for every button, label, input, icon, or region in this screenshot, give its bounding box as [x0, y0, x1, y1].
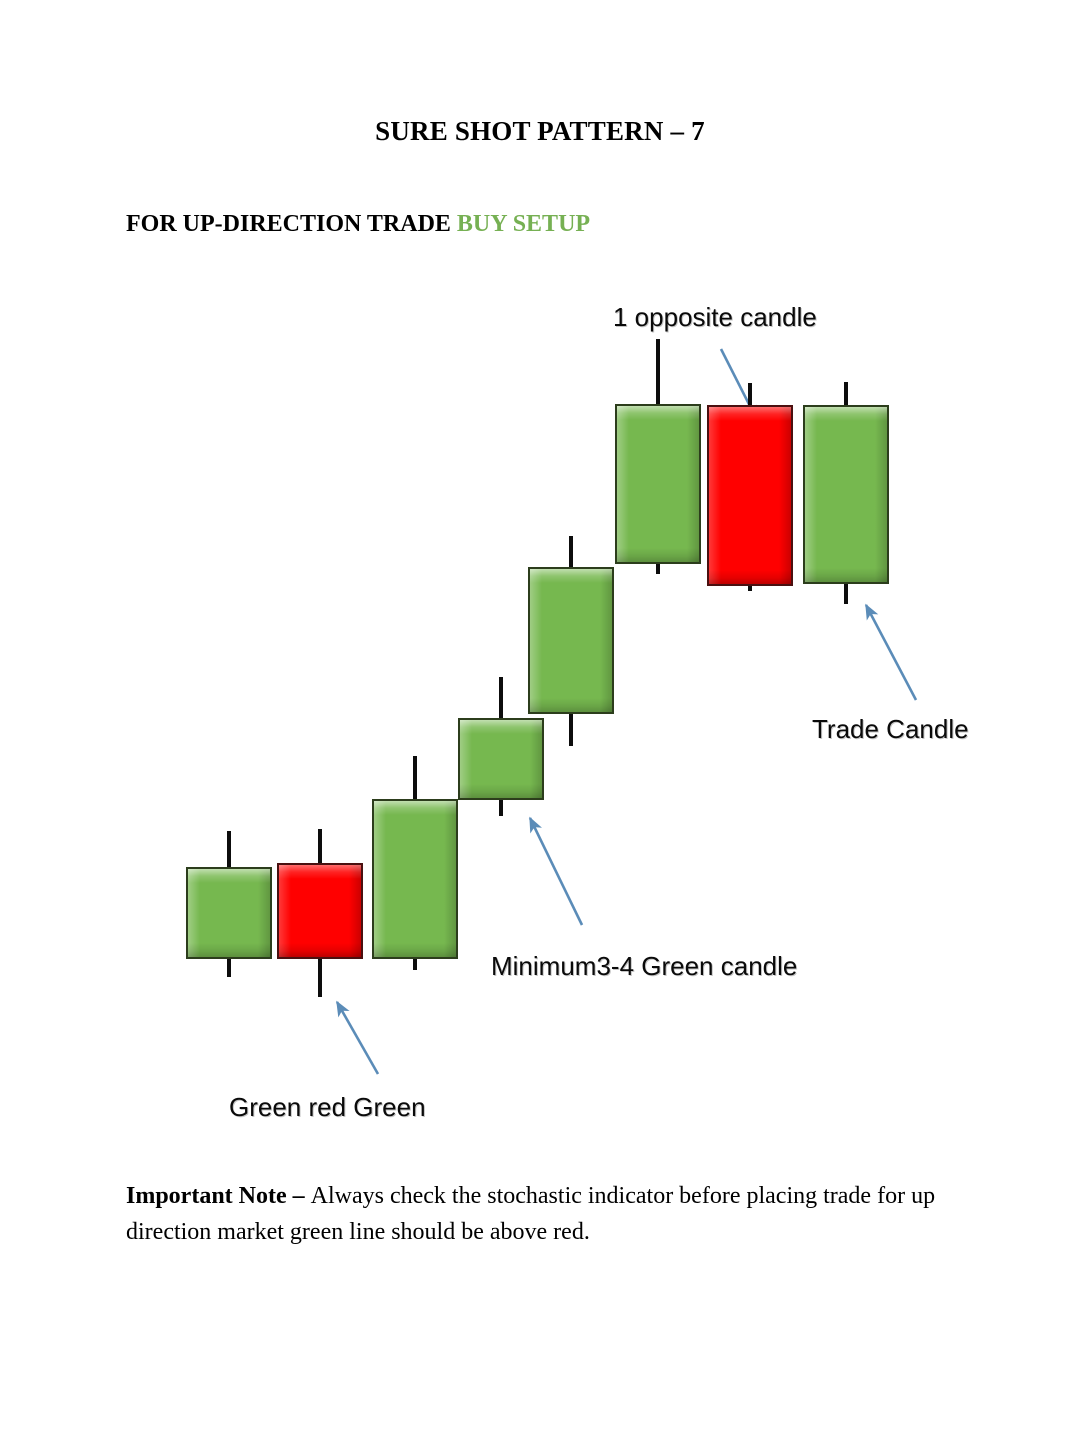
- candle-7-red: [707, 383, 793, 591]
- candle-1-green: [186, 831, 272, 977]
- candle-8-body: [803, 405, 889, 584]
- document-page: SURE SHOT PATTERN – 7 FOR UP-DIRECTION T…: [0, 0, 1080, 1430]
- candle-8-green: [803, 382, 889, 604]
- candle-3-green: [372, 756, 458, 970]
- minimum-green-arrow: [530, 818, 582, 925]
- green-red-green-label: Green red Green: [229, 1092, 426, 1123]
- candle-5-green: [528, 536, 614, 746]
- important-note-label: Important Note –: [126, 1183, 311, 1209]
- candle-2-body: [277, 863, 363, 959]
- candle-5-body: [528, 567, 614, 714]
- trade-candle-arrow: [866, 605, 916, 700]
- candle-1-body: [186, 867, 272, 959]
- candle-6-body: [615, 404, 701, 564]
- candle-3-body: [372, 799, 458, 959]
- green-red-green-arrow: [337, 1002, 378, 1074]
- trade-candle-label: Trade Candle: [812, 714, 969, 745]
- minimum-green-label: Minimum3-4 Green candle: [491, 951, 797, 982]
- candle-6-green: [615, 339, 701, 574]
- candle-7-body: [707, 405, 793, 586]
- opposite-candle-label: 1 opposite candle: [613, 302, 817, 333]
- candle-2-red: [277, 829, 363, 997]
- important-note: Important Note – Always check the stocha…: [126, 1178, 956, 1250]
